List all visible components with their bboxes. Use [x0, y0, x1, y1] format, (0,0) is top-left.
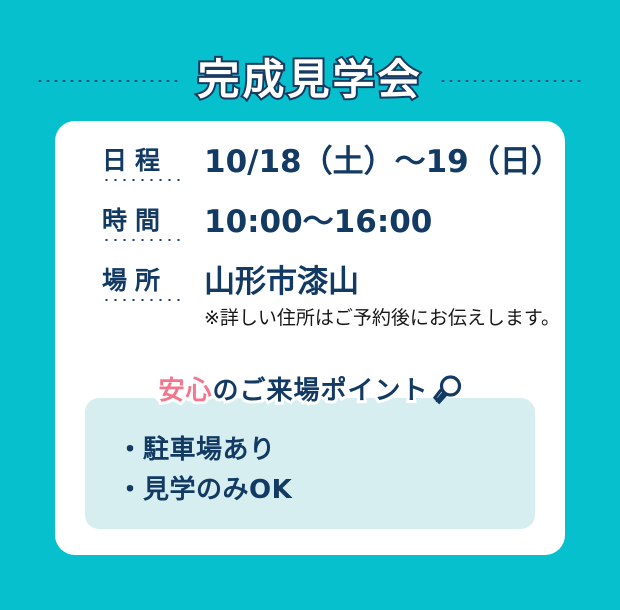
visit-points-heading: 安心のご来場ポイント [85, 374, 535, 415]
visit-points-heading-rest: のご来場ポイント [213, 376, 429, 406]
detail-label-date: 日程 [100, 143, 192, 179]
detail-value-wrap-date: 10/18（土）〜19（日） [192, 143, 562, 181]
visit-point-item-viewing: ・ 見学のみOK [117, 470, 292, 510]
header-band: 完成見学会 [0, 52, 620, 108]
detail-row-time: 時間 10:00〜16:00 [100, 203, 547, 241]
detail-note-place: ※詳しい住所はご予約後にお伝えします。 [204, 305, 560, 331]
visit-points-list: ・ 駐車場あり ・ 見学のみOK [117, 430, 292, 510]
visit-point-item-parking: ・ 駐車場あり [117, 430, 292, 470]
dotted-rule-left [36, 78, 181, 82]
detail-row-place: 場所 山形市漆山 ※詳しい住所はご予約後にお伝えします。 [100, 263, 547, 331]
detail-label-place: 場所 [100, 263, 192, 299]
bullet-icon: ・ [117, 430, 143, 470]
detail-value-wrap-time: 10:00〜16:00 [192, 203, 547, 241]
event-details-list: 日程 10/18（土）〜19（日） 時間 10:00〜16:00 場所 山形市漆… [100, 143, 547, 331]
visit-points-heading-accent: 安心 [158, 376, 212, 406]
detail-value-date: 10/18（土）〜19（日） [204, 143, 562, 181]
magnifier-icon [432, 374, 462, 415]
visit-point-text-viewing: 見学のみOK [143, 470, 292, 510]
bullet-icon: ・ [117, 470, 143, 510]
detail-value-time: 10:00〜16:00 [204, 203, 547, 241]
visit-points-panel: 安心のご来場ポイント ・ 駐車場あり ・ [85, 398, 535, 529]
detail-value-place: 山形市漆山 [204, 263, 560, 301]
detail-row-date: 日程 10/18（土）〜19（日） [100, 143, 547, 181]
detail-label-time: 時間 [100, 203, 192, 239]
page-title: 完成見学会 [197, 54, 422, 106]
poster-root: 完成見学会 日程 10/18（土）〜19（日） 時間 10:00〜16:00 場 [0, 0, 620, 610]
content-card: 日程 10/18（土）〜19（日） 時間 10:00〜16:00 場所 山形市漆… [55, 121, 565, 555]
dotted-rule-right [439, 78, 584, 82]
detail-value-wrap-place: 山形市漆山 ※詳しい住所はご予約後にお伝えします。 [192, 263, 560, 331]
visit-point-text-parking: 駐車場あり [143, 430, 276, 470]
